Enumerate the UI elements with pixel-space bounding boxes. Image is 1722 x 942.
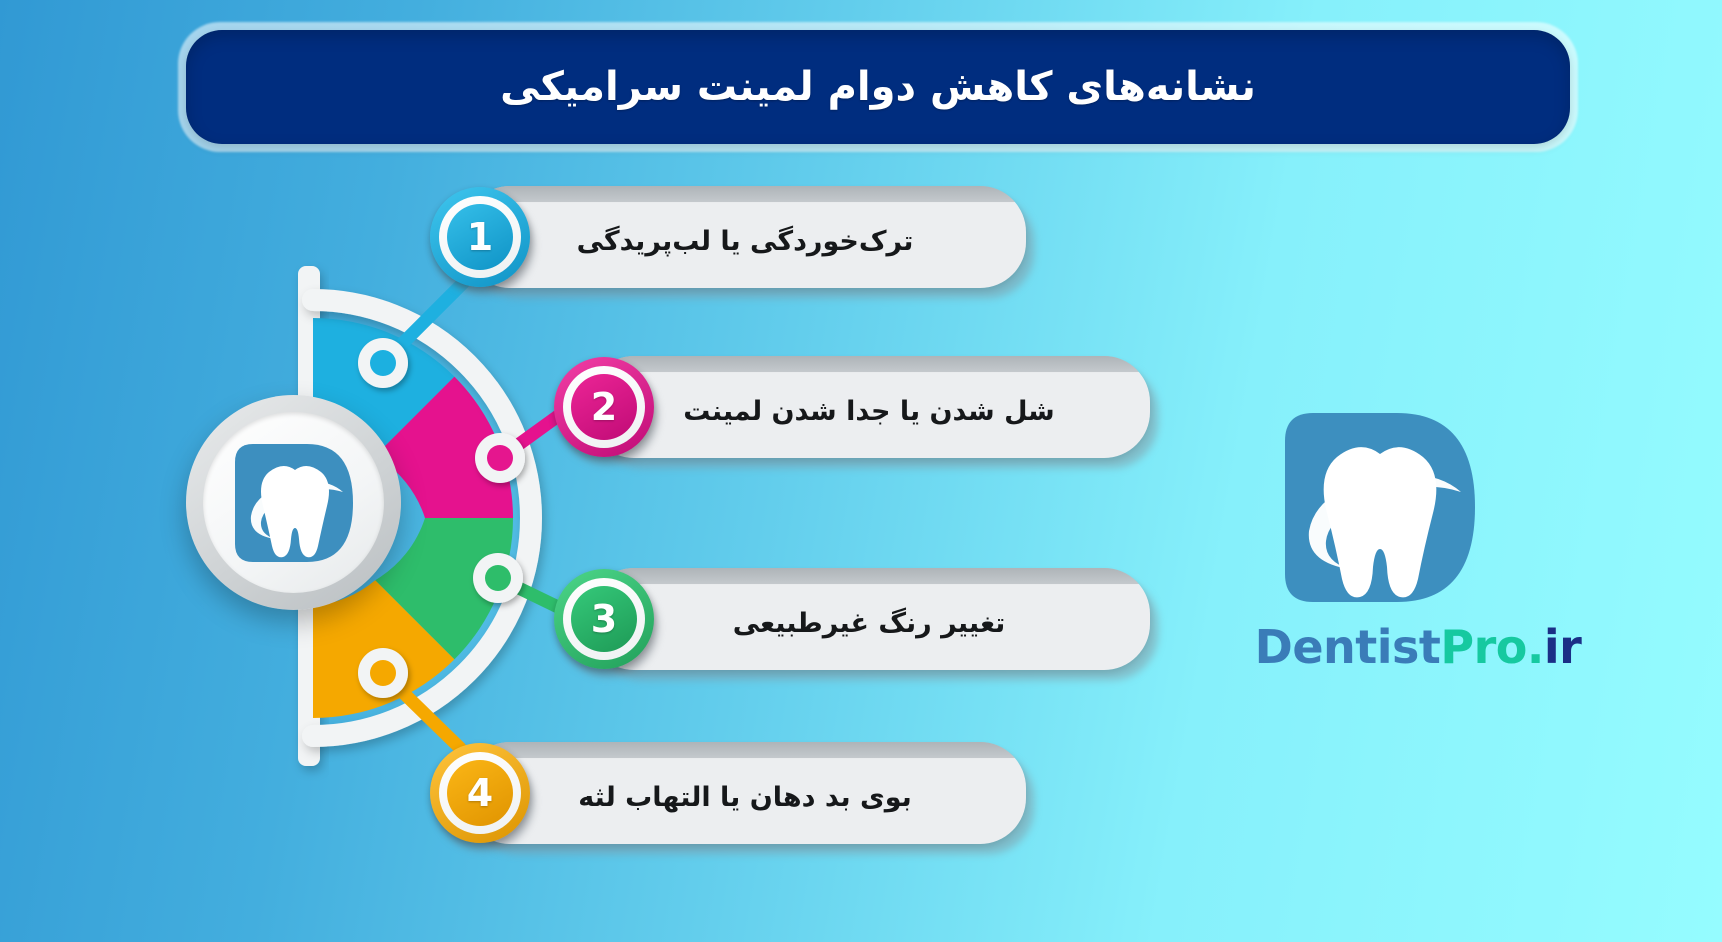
item-label-3: تغییر رنگ غیرطبیعی: [588, 568, 1150, 670]
brand-block: DentistPro.ir: [1253, 405, 1583, 685]
tooth-logo-icon: [1275, 405, 1485, 610]
brand-part-3: .: [1527, 620, 1544, 674]
list-item[interactable]: تغییر رنگ غیرطبیعی 3: [588, 568, 1150, 670]
item-badge-1[interactable]: 1: [430, 187, 530, 287]
brand-part-2: Pro: [1440, 620, 1527, 674]
tooth-logo-icon: [229, 438, 359, 568]
page-title: نشانه‌های کاهش دوام لمینت سرامیکی: [500, 64, 1256, 110]
item-label-4: بوی بد دهان یا التهاب لثه: [464, 742, 1026, 844]
item-card-1[interactable]: ترک‌خوردگی یا لب‌پریدگی: [464, 186, 1026, 288]
badge-number-4: 4: [447, 760, 513, 826]
item-card-2[interactable]: شل شدن یا جدا شدن لمینت: [588, 356, 1150, 458]
list-item[interactable]: ترک‌خوردگی یا لب‌پریدگی 1: [464, 186, 1026, 288]
item-badge-4[interactable]: 4: [430, 743, 530, 843]
item-badge-3[interactable]: 3: [554, 569, 654, 669]
badge-number-2: 2: [571, 374, 637, 440]
item-badge-2[interactable]: 2: [554, 357, 654, 457]
brand-part-4: ir: [1544, 620, 1581, 674]
title-bar: نشانه‌های کاهش دوام لمینت سرامیکی: [186, 30, 1570, 144]
list-item[interactable]: شل شدن یا جدا شدن لمینت 2: [588, 356, 1150, 458]
item-card-4[interactable]: بوی بد دهان یا التهاب لثه: [464, 742, 1026, 844]
list-item[interactable]: بوی بد دهان یا التهاب لثه 4: [464, 742, 1026, 844]
item-label-1: ترک‌خوردگی یا لب‌پریدگی: [464, 186, 1026, 288]
center-hub: [186, 395, 401, 610]
badge-number-3: 3: [571, 586, 637, 652]
center-hub-inner: [203, 412, 384, 593]
item-card-3[interactable]: تغییر رنگ غیرطبیعی: [588, 568, 1150, 670]
infographic-canvas: نشانه‌های کاهش دوام لمینت سرامیکی: [0, 0, 1722, 942]
badge-number-1: 1: [447, 204, 513, 270]
brand-wordmark: DentistPro.ir: [1253, 620, 1583, 674]
item-label-2: شل شدن یا جدا شدن لمینت: [588, 356, 1150, 458]
brand-part-1: Dentist: [1255, 620, 1441, 674]
title-banner: نشانه‌های کاهش دوام لمینت سرامیکی: [178, 22, 1578, 152]
